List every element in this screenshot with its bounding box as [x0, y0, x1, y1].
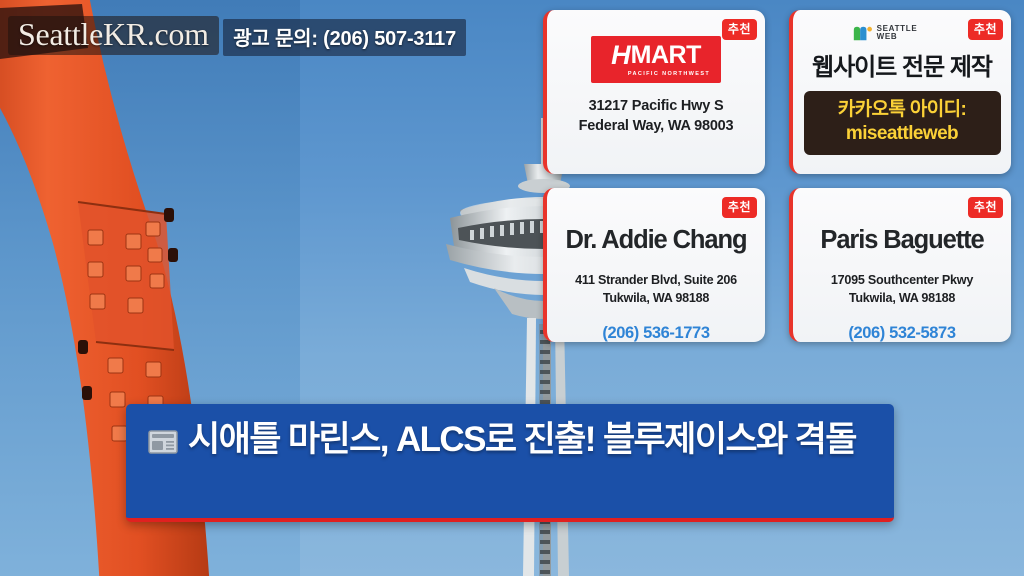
business-phone[interactable]: (206) 536-1773: [602, 324, 709, 343]
business-name: Paris Baguette: [820, 226, 983, 255]
hmart-logo: H MART PACIFIC NORTHWEST: [591, 36, 721, 83]
newspaper-icon: [148, 422, 178, 466]
ad-card-grid: 추천 H MART PACIFIC NORTHWEST 31217 Pacifi…: [543, 10, 1011, 342]
hmart-address: 31217 Pacific Hwy S Federal Way, WA 9800…: [579, 96, 734, 136]
kakao-label: 카카오톡 아이디:: [808, 98, 997, 122]
business-address-line2: Tukwila, WA 98188: [575, 289, 737, 307]
seattle-web-logo-line2: WEB: [877, 33, 918, 41]
brand-block: SeattleKR.com 광고 문의: (206) 507-3117: [8, 12, 466, 56]
business-address-line1: 411 Strander Blvd, Suite 206: [575, 271, 737, 289]
recommended-badge: 추천: [968, 197, 1003, 218]
headline-title: 시애틀 마린스, ALCS로 진출! 블루제이스와 격돌: [188, 420, 856, 459]
business-address: 411 Strander Blvd, Suite 206 Tukwila, WA…: [575, 271, 737, 308]
business-phone[interactable]: (206) 532-5873: [848, 324, 955, 343]
seattle-web-headline: 웹사이트 전문 제작: [812, 47, 992, 82]
hmart-address-line1: 31217 Pacific Hwy S: [579, 96, 734, 116]
business-address: 17095 Southcenter Pkwy Tukwila, WA 98188: [831, 271, 973, 308]
ad-inquiry-phone[interactable]: 광고 문의: (206) 507-3117: [223, 19, 466, 56]
seattle-web-logo: SEATTLE WEB: [853, 25, 918, 42]
kakao-id: miseattleweb: [808, 122, 997, 146]
ad-card-hmart[interactable]: 추천 H MART PACIFIC NORTHWEST 31217 Pacifi…: [543, 10, 765, 174]
site-logo[interactable]: SeattleKR.com: [8, 16, 219, 55]
hmart-logo-h: H: [611, 42, 630, 69]
kakao-contact-box[interactable]: 카카오톡 아이디: miseattleweb: [804, 91, 1001, 156]
ad-card-dr-addie-chang[interactable]: 추천 Dr. Addie Chang 411 Strander Blvd, Su…: [543, 188, 765, 342]
business-address-line2: Tukwila, WA 98188: [831, 289, 973, 307]
hmart-logo-word: MART: [631, 43, 701, 68]
business-name: Dr. Addie Chang: [566, 226, 747, 255]
hmart-address-line2: Federal Way, WA 98003: [579, 116, 734, 136]
headline-text-wrap: 시애틀 마린스, ALCS로 진출! 블루제이스와 격돌: [148, 418, 872, 466]
seattle-web-logo-text: SEATTLE WEB: [877, 25, 918, 42]
news-card-graphic: SeattleKR.com 광고 문의: (206) 507-3117 추천 H…: [0, 0, 1024, 576]
ad-card-seattle-web[interactable]: 추천 SEATTLE WEB 웹사이트 전문 제작 카카오톡 아이디: mise…: [789, 10, 1011, 174]
headline-banner[interactable]: 시애틀 마린스, ALCS로 진출! 블루제이스와 격돌: [126, 404, 894, 522]
recommended-badge: 추천: [722, 19, 757, 40]
business-address-line1: 17095 Southcenter Pkwy: [831, 271, 973, 289]
hmart-logo-sub: PACIFIC NORTHWEST: [628, 71, 710, 77]
recommended-badge: 추천: [968, 19, 1003, 40]
seattle-web-mark-icon: [853, 26, 872, 41]
ad-card-paris-baguette[interactable]: 추천 Paris Baguette 17095 Southcenter Pkwy…: [789, 188, 1011, 342]
recommended-badge: 추천: [722, 197, 757, 218]
